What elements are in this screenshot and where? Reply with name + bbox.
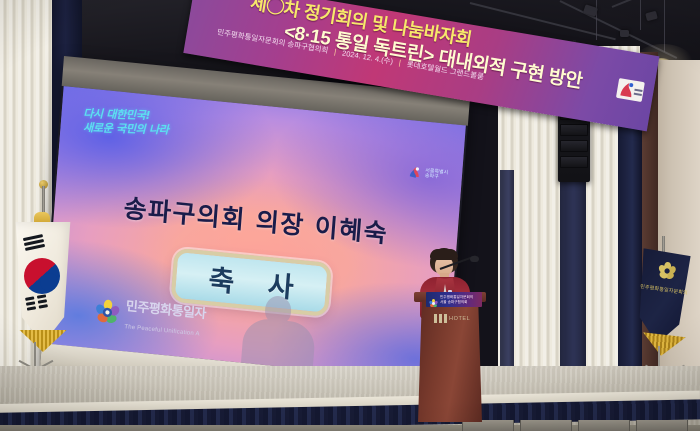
hotel-logo: HOTEL (434, 314, 470, 323)
banner-separator-2: | (398, 58, 401, 67)
mpc-logo-text: 민주평화통일자 The Peaceful Unification A (124, 295, 207, 341)
mpc-flower-icon (94, 298, 122, 326)
banner-separator-1: | (333, 47, 336, 56)
screen-slogan: 다시 대한민국! 새로운 국민의 나라 (83, 107, 169, 137)
mpc-logo-english: The Peaceful Unification A (124, 324, 200, 337)
banner-songpa-icon (616, 78, 645, 102)
logo-district: 송파구 (425, 173, 439, 180)
podium-sign-line-2: 서울 송파구협의회 (440, 300, 467, 304)
screen-title: 송파구의회 의장 이혜숙 (54, 182, 459, 257)
stage-curtain-navy (500, 170, 514, 388)
stage-riser (636, 420, 688, 431)
podium: 민주평화통일자문회의 서울 송파구협의회 HOTEL (414, 292, 486, 422)
org-flag-fringe (637, 332, 689, 358)
slogan-line-2: 새로운 국민의 나라 (83, 121, 169, 137)
event-photo-scene: 다시 대한민국! 새로운 국민의 나라 서울특별시 송파구 (0, 0, 700, 431)
mpc-logo-korean: 민주평화통일자 (125, 299, 206, 322)
podium-sign-text: 민주평화통일자문회의 서울 송파구협의회 (440, 295, 473, 304)
hotel-logo-text: HOTEL (449, 316, 470, 322)
audience-silhouette (239, 293, 322, 370)
hanging-wire (640, 0, 641, 30)
microphone-head-icon (470, 256, 479, 262)
songpa-logo-text: 서울특별시 송파구 (425, 169, 449, 181)
taeguk-symbol (24, 258, 60, 294)
hanging-wire (596, 0, 597, 40)
podium-sign: 민주평화통일자문회의 서울 송파구협의회 (426, 292, 482, 307)
flag-fringe (15, 330, 71, 352)
podium-sign-icon (429, 295, 438, 304)
podium-sign-line-1: 민주평화통일자문회의 (440, 295, 473, 299)
stage-riser (520, 420, 572, 431)
org-flag-emblem-icon (655, 261, 679, 283)
korean-national-flag (6, 196, 80, 376)
led-screen-display: 다시 대한민국! 새로운 국민의 나라 서울특별시 송파구 (44, 86, 466, 383)
stage-light-fixture (620, 30, 629, 37)
stage-riser (578, 420, 630, 431)
songpa-district-logo: 서울특별시 송파구 (406, 164, 448, 184)
songpa-emblem-icon (406, 164, 423, 182)
hotel-crown-icon (434, 314, 447, 323)
led-screen: 다시 대한민국! 새로운 국민의 나라 서울특별시 송파구 (39, 56, 470, 415)
person-hair-front (430, 249, 458, 260)
